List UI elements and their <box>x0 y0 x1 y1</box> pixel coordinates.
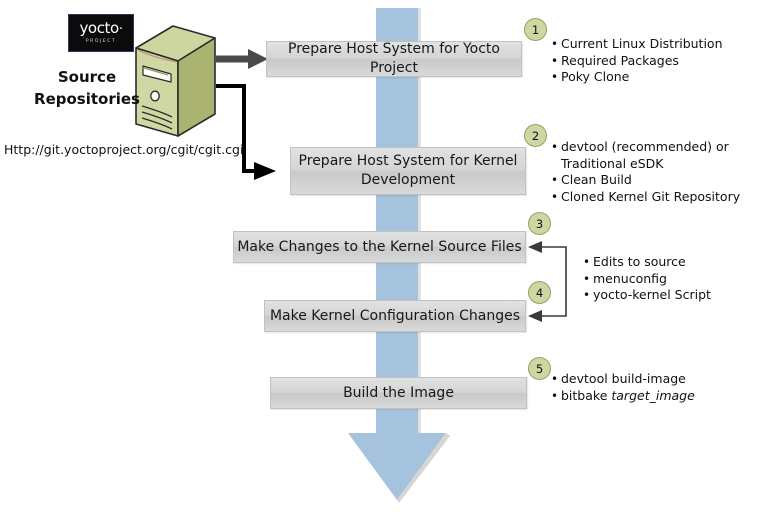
process-box-5-label: Build the Image <box>343 384 454 403</box>
step-number-4-text: 4 <box>536 286 543 300</box>
list-item-line1: devtool (recommended) or <box>561 139 740 156</box>
step-number-3-text: 3 <box>536 217 543 231</box>
step-number-badge-3: 3 <box>528 212 551 235</box>
step-number-1-text: 1 <box>532 23 539 37</box>
list-item-line2: Traditional eSDK <box>561 156 740 173</box>
step-number-5-text: 5 <box>536 362 543 376</box>
list-item: Current Linux Distribution <box>561 36 723 53</box>
step-number-badge-1: 1 <box>524 18 547 41</box>
bitbake-target-image: target_image <box>611 388 694 403</box>
source-repositories-line1: Source <box>22 66 152 88</box>
yocto-logo-subtitle: PROJECT <box>86 38 116 45</box>
process-box-2-label: Prepare Host System for Kernel Developme… <box>299 152 518 190</box>
step-number-badge-4: 4 <box>528 281 551 304</box>
step-5-bullet-list: devtool build-image bitbake target_image <box>548 371 695 404</box>
list-item: Poky Clone <box>561 69 723 86</box>
source-repositories-url: Http://git.yoctoproject.org/cgit/cgit.cg… <box>4 142 243 157</box>
list-item: Clean Build <box>561 172 740 189</box>
process-box-2-label-line2: Development <box>361 172 455 188</box>
process-box-prepare-host-yocto[interactable]: Prepare Host System for Yocto Project <box>266 41 522 77</box>
process-box-prepare-host-kernel[interactable]: Prepare Host System for Kernel Developme… <box>290 147 526 195</box>
process-box-1-label: Prepare Host System for Yocto Project <box>267 40 521 78</box>
yocto-project-logo: yocto· PROJECT <box>68 14 134 52</box>
process-box-make-kernel-config-changes[interactable]: Make Kernel Configuration Changes <box>264 300 526 332</box>
step-number-badge-2: 2 <box>524 124 547 147</box>
process-box-3-label: Make Changes to the Kernel Source Files <box>237 238 521 257</box>
process-box-2-label-line1: Prepare Host System for Kernel <box>299 153 518 169</box>
process-box-make-kernel-source-changes[interactable]: Make Changes to the Kernel Source Files <box>233 231 526 263</box>
diagram-canvas: yocto· PROJECT Source Repositories Http:… <box>0 0 769 517</box>
process-box-4-label: Make Kernel Configuration Changes <box>270 307 520 326</box>
list-item: yocto-kernel Script <box>593 287 711 304</box>
list-item: Edits to source <box>593 254 711 271</box>
bitbake-prefix: bitbake <box>561 388 611 403</box>
step-number-2-text: 2 <box>532 129 539 143</box>
list-item: menuconfig <box>593 271 711 288</box>
list-item: Cloned Kernel Git Repository <box>561 189 740 206</box>
step-2-bullet-list: devtool (recommended) or Traditional eSD… <box>548 139 740 205</box>
process-box-build-image[interactable]: Build the Image <box>270 377 527 409</box>
list-item: Required Packages <box>561 53 723 70</box>
yocto-logo-word: yocto· <box>79 21 122 37</box>
steps-3-4-shared-bullet-list: Edits to source menuconfig yocto-kernel … <box>580 254 711 304</box>
list-item: devtool (recommended) or Traditional eSD… <box>561 139 740 172</box>
source-repositories-line2: Repositories <box>22 88 152 110</box>
list-item: bitbake target_image <box>561 388 695 405</box>
list-item: devtool build-image <box>561 371 695 388</box>
source-repositories-label: Source Repositories <box>22 66 152 110</box>
step-1-bullet-list: Current Linux Distribution Required Pack… <box>548 36 723 86</box>
